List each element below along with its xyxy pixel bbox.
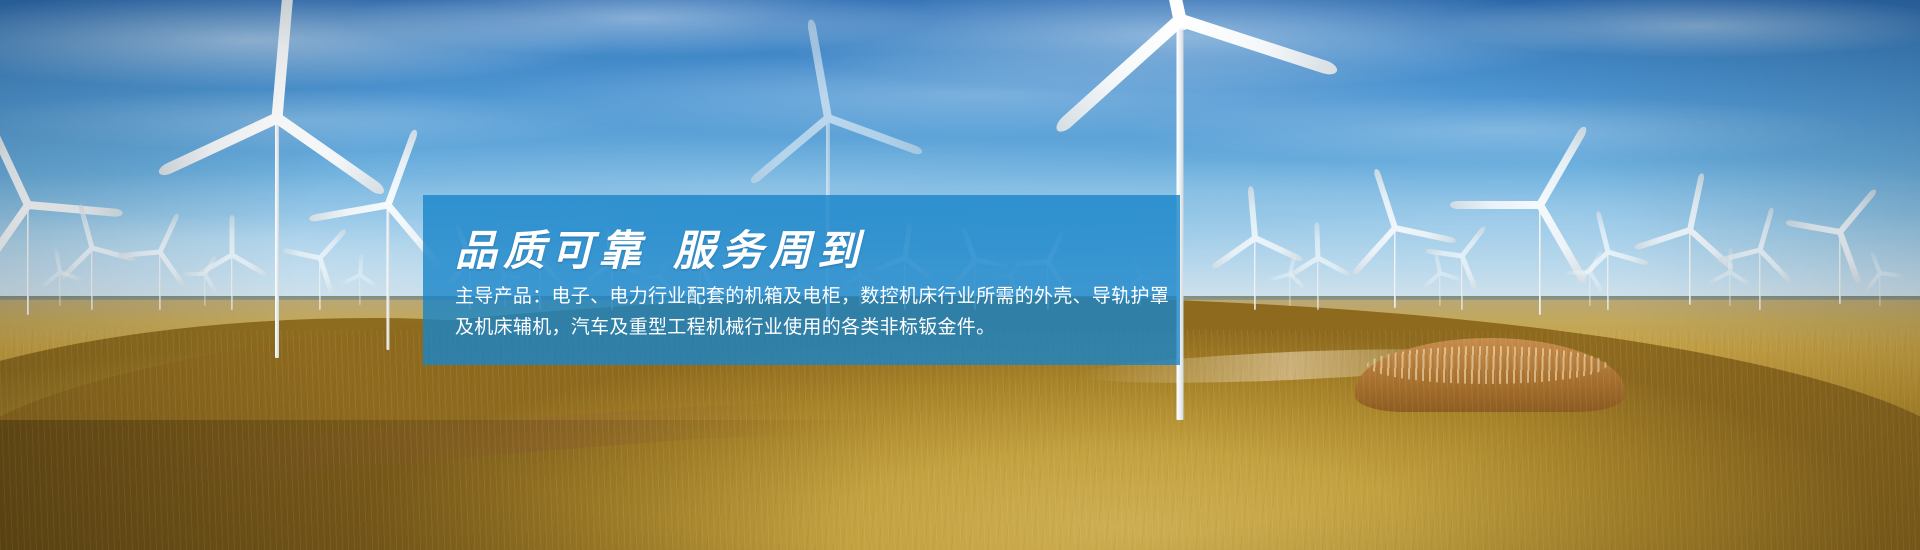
wind-turbine <box>1288 274 1292 306</box>
turbine-blade <box>1728 248 1733 272</box>
wind-turbine <box>1758 250 1762 310</box>
wind-turbine <box>1728 272 1732 306</box>
turbine-blade <box>183 272 205 276</box>
turbine-mast <box>1394 228 1396 308</box>
wind-turbine <box>1253 238 1257 310</box>
turbine-mast <box>27 205 29 315</box>
turbine-mast <box>1689 230 1691 305</box>
turbine-mast <box>1879 273 1881 306</box>
turbine-mast <box>1289 274 1291 306</box>
wind-turbine <box>1606 252 1610 310</box>
wind-turbine <box>1393 228 1397 308</box>
turbine-blade <box>1450 201 1540 209</box>
overlay-text-panel: 品质可靠服务周到 主导产品：电子、电力行业配套的机箱及电柜，数控机床行业所需的外… <box>423 195 1180 365</box>
wind-turbine <box>26 205 30 315</box>
banner-headline: 品质可靠服务周到 <box>455 217 865 278</box>
turbine-mast <box>359 275 361 305</box>
description-line-2: 及机床辅机，汽车及重型工程机械行业使用的各类非标钣金件。 <box>455 312 1155 343</box>
wind-turbine <box>1878 273 1882 306</box>
turbine-mast <box>1317 258 1319 310</box>
wind-turbine <box>1588 272 1592 306</box>
wind-turbine <box>1316 258 1320 310</box>
wind-turbine <box>1838 232 1842 304</box>
wind-turbine <box>358 275 362 305</box>
wind-turbine <box>230 255 234 310</box>
turbine-mast <box>59 272 61 306</box>
wind-turbine <box>1538 205 1542 315</box>
wind-turbine <box>1438 273 1442 306</box>
turbine-mast <box>1759 250 1761 310</box>
hero-banner: 品质可靠服务周到 主导产品：电子、电力行业配套的机箱及电柜，数控机床行业所需的外… <box>0 0 1920 550</box>
turbine-blade <box>1566 270 1590 275</box>
wind-turbine <box>158 252 162 310</box>
wind-turbine <box>386 205 390 350</box>
banner-description: 主导产品：电子、电力行业配套的机箱及电柜，数控机床行业所需的外壳、导轨护罩 及机… <box>455 281 1155 343</box>
turbine-mast <box>1607 252 1609 310</box>
headline-part-2: 服务周到 <box>673 229 865 275</box>
turbine-mast <box>1439 273 1441 306</box>
headline-part-1: 品质可靠 <box>455 229 647 275</box>
turbine-mast <box>91 248 93 310</box>
turbine-blade <box>230 215 235 255</box>
turbine-mast <box>231 255 233 310</box>
turbine-mast <box>1539 205 1541 315</box>
turbine-mast <box>1729 272 1731 306</box>
wind-turbine <box>58 272 62 306</box>
turbine-mast <box>275 118 279 358</box>
turbine-mast <box>387 205 390 350</box>
turbine-mast <box>159 252 161 310</box>
wind-turbine <box>1460 256 1464 310</box>
wind-turbine <box>203 274 207 306</box>
wind-turbine <box>318 258 322 310</box>
description-line-1: 主导产品：电子、电力行业配套的机箱及电柜，数控机床行业所需的外壳、导轨护罩 <box>455 281 1155 312</box>
wind-turbine <box>1688 230 1692 305</box>
wind-turbine <box>275 118 279 358</box>
wind-turbine <box>90 248 94 310</box>
turbine-mast <box>1254 238 1256 310</box>
